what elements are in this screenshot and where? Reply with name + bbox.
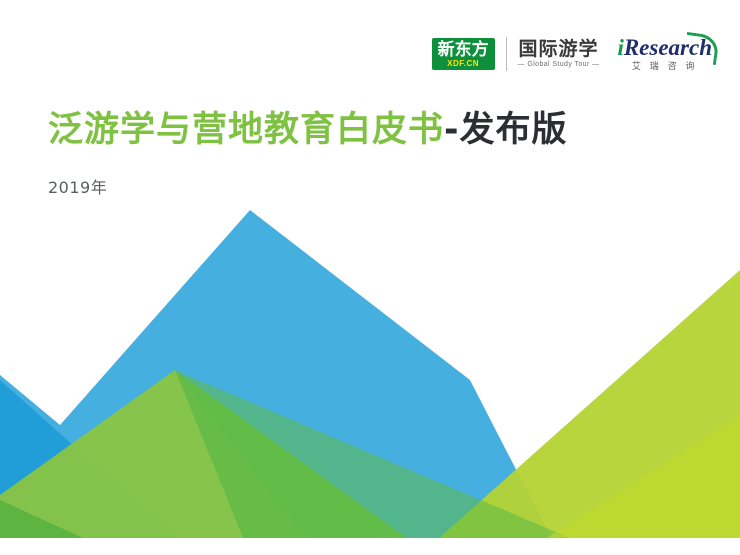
iresearch-logo: iResearch 艾 瑞 咨 询 — [617, 36, 712, 73]
global-study-tour-name-en: — Global Study Tour — — [518, 60, 600, 69]
xdf-logo-name-cn: 新东方 — [438, 41, 489, 59]
global-study-tour-logo: 国际游学 — Global Study Tour — — [518, 39, 600, 69]
logo-bar: 新东方 XDF.CN 国际游学 — Global Study Tour — iR… — [432, 30, 712, 78]
xdf-logo-name-en: XDF.CN — [447, 59, 479, 68]
page-title: 泛游学与营地教育白皮书-发布版 — [48, 108, 698, 152]
mountain-artwork — [0, 165, 740, 555]
global-study-tour-name-cn: 国际游学 — [519, 39, 599, 60]
iresearch-logo-name-cn: 艾 瑞 咨 询 — [632, 61, 698, 73]
page-title-main: 泛游学与营地教育白皮书 — [48, 110, 444, 150]
title-slide: 新东方 XDF.CN 国际游学 — Global Study Tour — iR… — [0, 0, 740, 555]
xdf-logo: 新东方 XDF.CN — [432, 38, 495, 70]
page-title-suffix: -发布版 — [444, 110, 568, 150]
logo-divider — [506, 37, 507, 71]
xdf-logo-block: 新东方 XDF.CN 国际游学 — Global Study Tour — — [432, 30, 600, 78]
swoosh-icon — [683, 31, 720, 64]
bottom-white-band — [0, 538, 740, 555]
